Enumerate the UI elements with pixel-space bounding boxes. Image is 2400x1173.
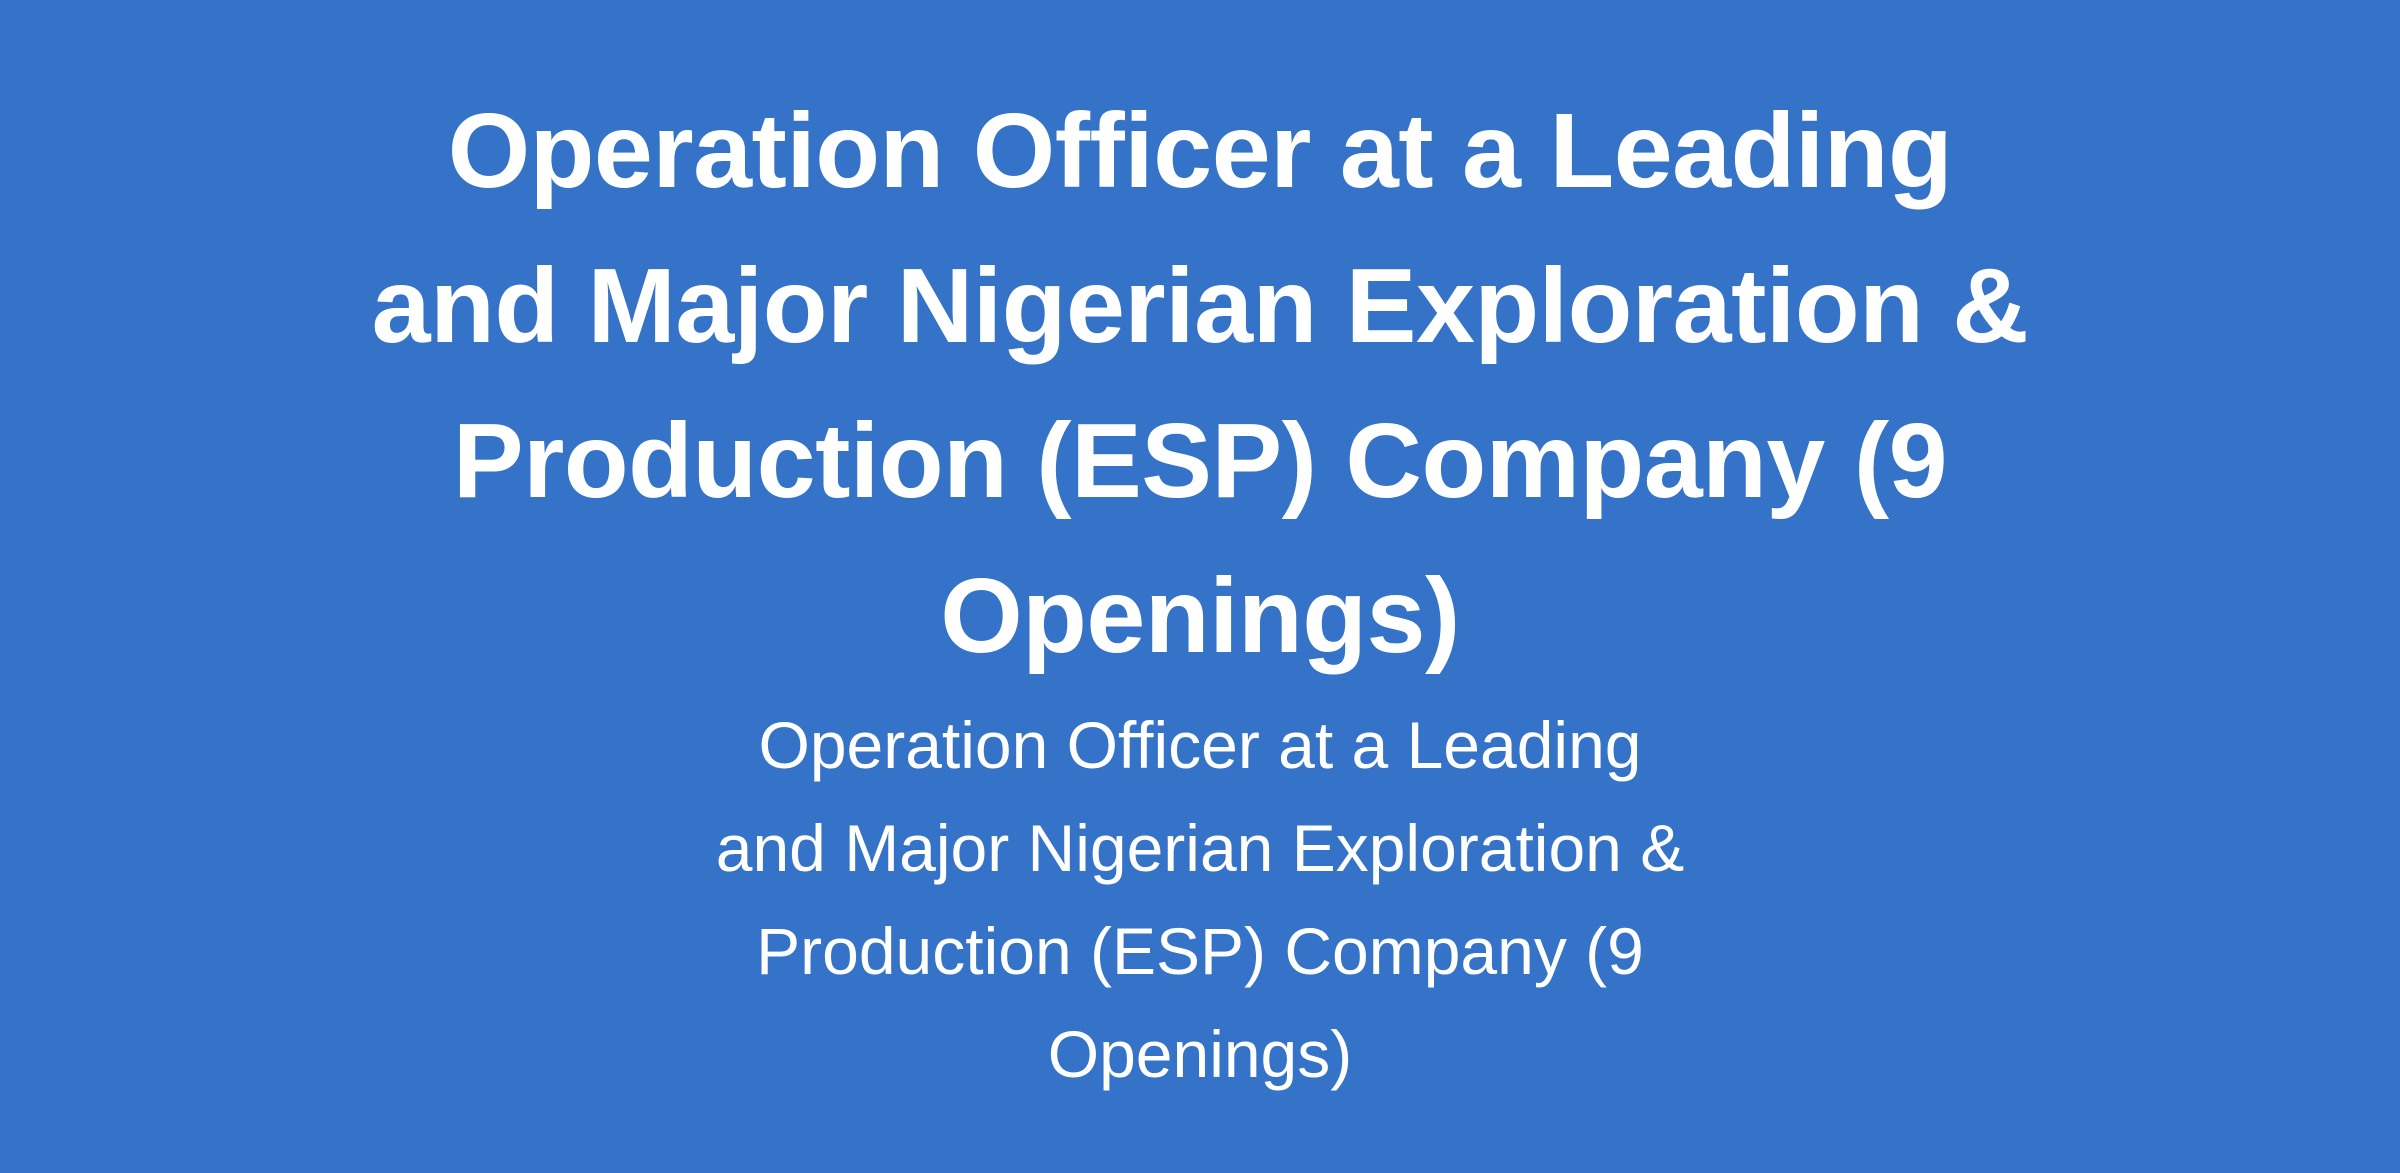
- job-posting-card: Operation Officer at a Leading and Major…: [0, 0, 2400, 1173]
- card-text-block: Operation Officer at a Leading and Major…: [0, 68, 2400, 1106]
- page-subtitle: Operation Officer at a Leading and Major…: [700, 694, 1700, 1106]
- page-title: Operation Officer at a Leading and Major…: [350, 74, 2050, 694]
